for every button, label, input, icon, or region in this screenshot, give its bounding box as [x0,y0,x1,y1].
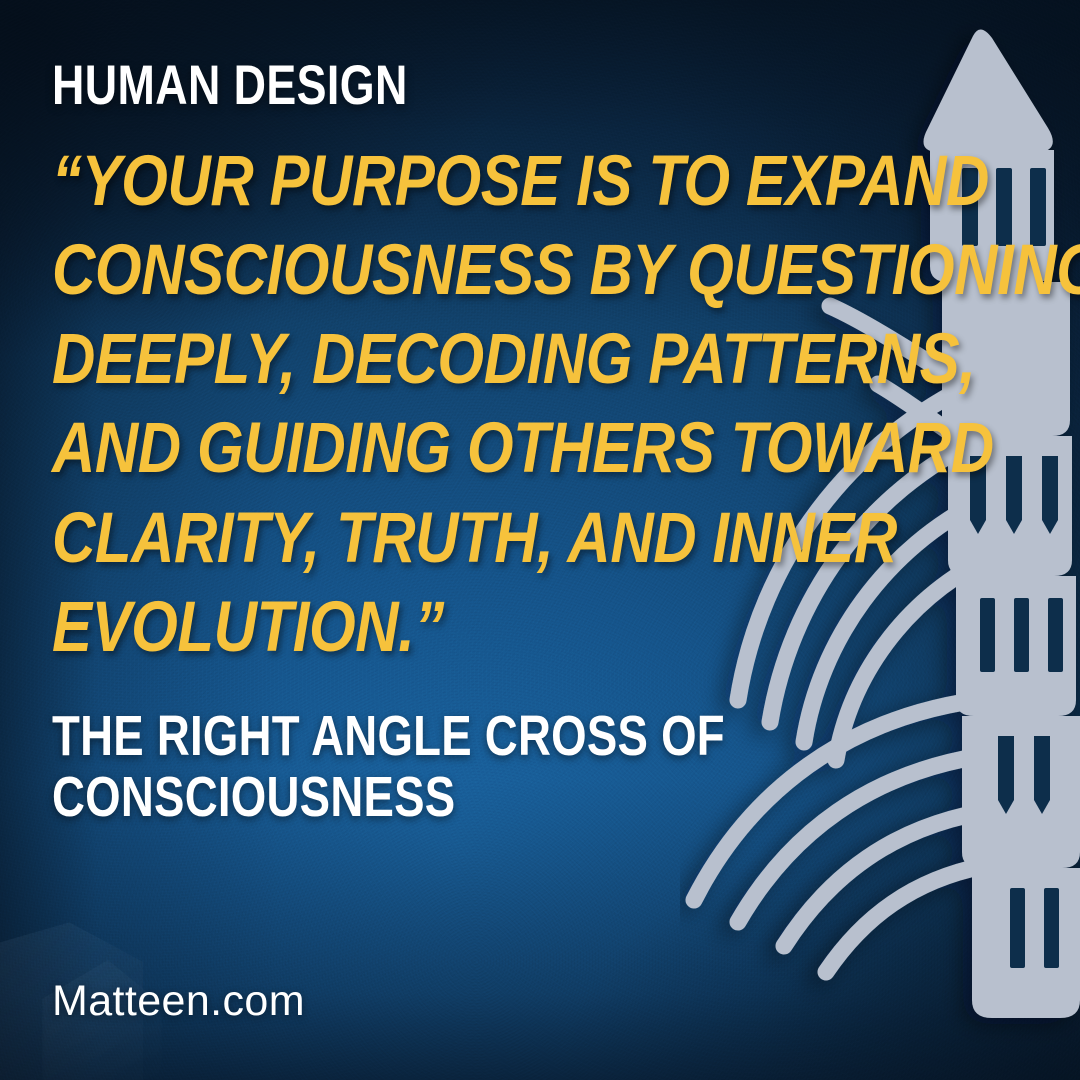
attribution-line: THE RIGHT ANGLE CROSS OF [52,706,932,768]
content-stack: HUMAN DESIGN “YOUR PURPOSE IS TO EXPAND … [0,0,1080,1080]
poster-canvas: HUMAN DESIGN “YOUR PURPOSE IS TO EXPAND … [0,0,1080,1080]
attribution-line: CONSCIOUSNESS [52,767,932,829]
quote-block: “YOUR PURPOSE IS TO EXPAND CONSCIOUSNESS… [52,137,1049,672]
quote-line: EVOLUTION.” [52,583,1049,672]
quote-line: DEEPLY, DECODING PATTERNS, [52,315,1049,404]
quote-attribution: THE RIGHT ANGLE CROSS OF CONSCIOUSNESS [52,706,932,829]
quote-line: CLARITY, TRUTH, AND INNER [52,494,1049,583]
page-kicker: HUMAN DESIGN [52,58,874,111]
quote-line: CONSCIOUSNESS BY QUESTIONING [52,226,1049,315]
quote-line: “YOUR PURPOSE IS TO EXPAND [52,137,1049,226]
quote-line: AND GUIDING OTHERS TOWARD [52,404,1049,493]
website-credit: Matteen.com [52,977,305,1026]
